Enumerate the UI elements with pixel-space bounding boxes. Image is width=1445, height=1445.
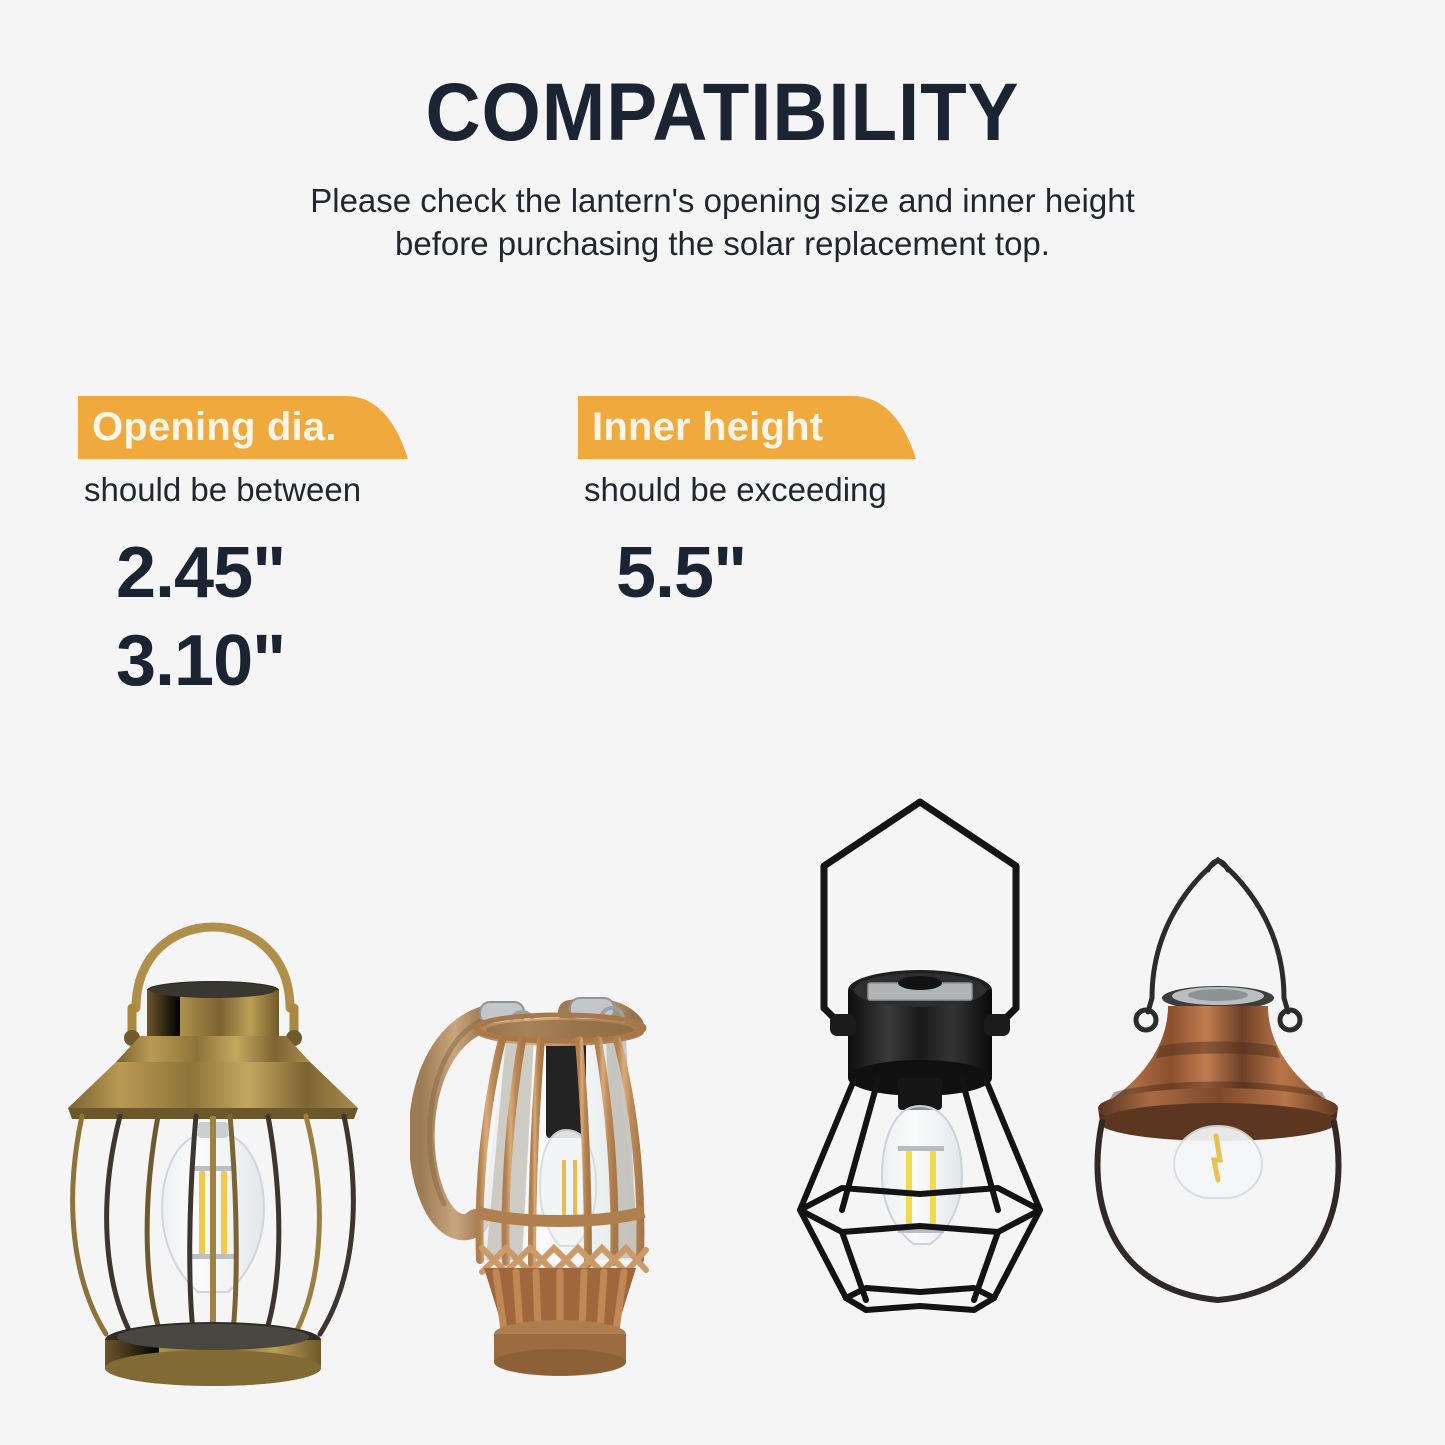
rattan-lantern-graphic	[410, 960, 710, 1390]
lantern-gallery	[0, 760, 1445, 1420]
spec-opening-diameter: Opening dia. should be between 2.45" 3.1…	[78, 396, 408, 706]
spec-inner-height: Inner height should be exceeding 5.5"	[578, 396, 916, 618]
spec-value-min: 5.5"	[616, 530, 916, 618]
infographic-page: COMPATIBILITY Please check the lantern's…	[0, 0, 1445, 1445]
spec-qualifier: should be exceeding	[578, 472, 916, 508]
page-subtitle: Please check the lantern's opening size …	[0, 180, 1445, 266]
subtitle-line-2: before purchasing the solar replacement …	[0, 223, 1445, 266]
header: COMPATIBILITY Please check the lantern's…	[0, 72, 1445, 266]
black-geometric-lantern-graphic	[790, 780, 1050, 1340]
spec-list: Opening dia. should be between 2.45" 3.1…	[0, 396, 1445, 726]
spec-value-min: 2.45"	[116, 530, 408, 618]
spec-value-max: 3.10"	[116, 618, 408, 706]
spec-value-group: 5.5"	[578, 530, 916, 618]
copper-bell-lantern-graphic	[1040, 840, 1400, 1360]
lantern-bronze-cage	[58, 840, 368, 1420]
spec-badge-opening-diameter: Opening dia.	[78, 396, 408, 459]
bronze-cage-lantern-graphic	[58, 840, 368, 1420]
spec-qualifier: should be between	[78, 472, 408, 508]
spec-value-group: 2.45" 3.10"	[78, 530, 408, 706]
lantern-copper-bell	[1040, 840, 1400, 1360]
spec-badge-inner-height: Inner height	[578, 396, 916, 459]
lantern-rattan	[410, 960, 710, 1390]
lantern-black-geometric	[790, 780, 1050, 1340]
subtitle-line-1: Please check the lantern's opening size …	[0, 180, 1445, 223]
page-title: COMPATIBILITY	[51, 72, 1395, 154]
spec-badge-label: Inner height	[578, 396, 916, 459]
spec-badge-label: Opening dia.	[78, 396, 408, 459]
